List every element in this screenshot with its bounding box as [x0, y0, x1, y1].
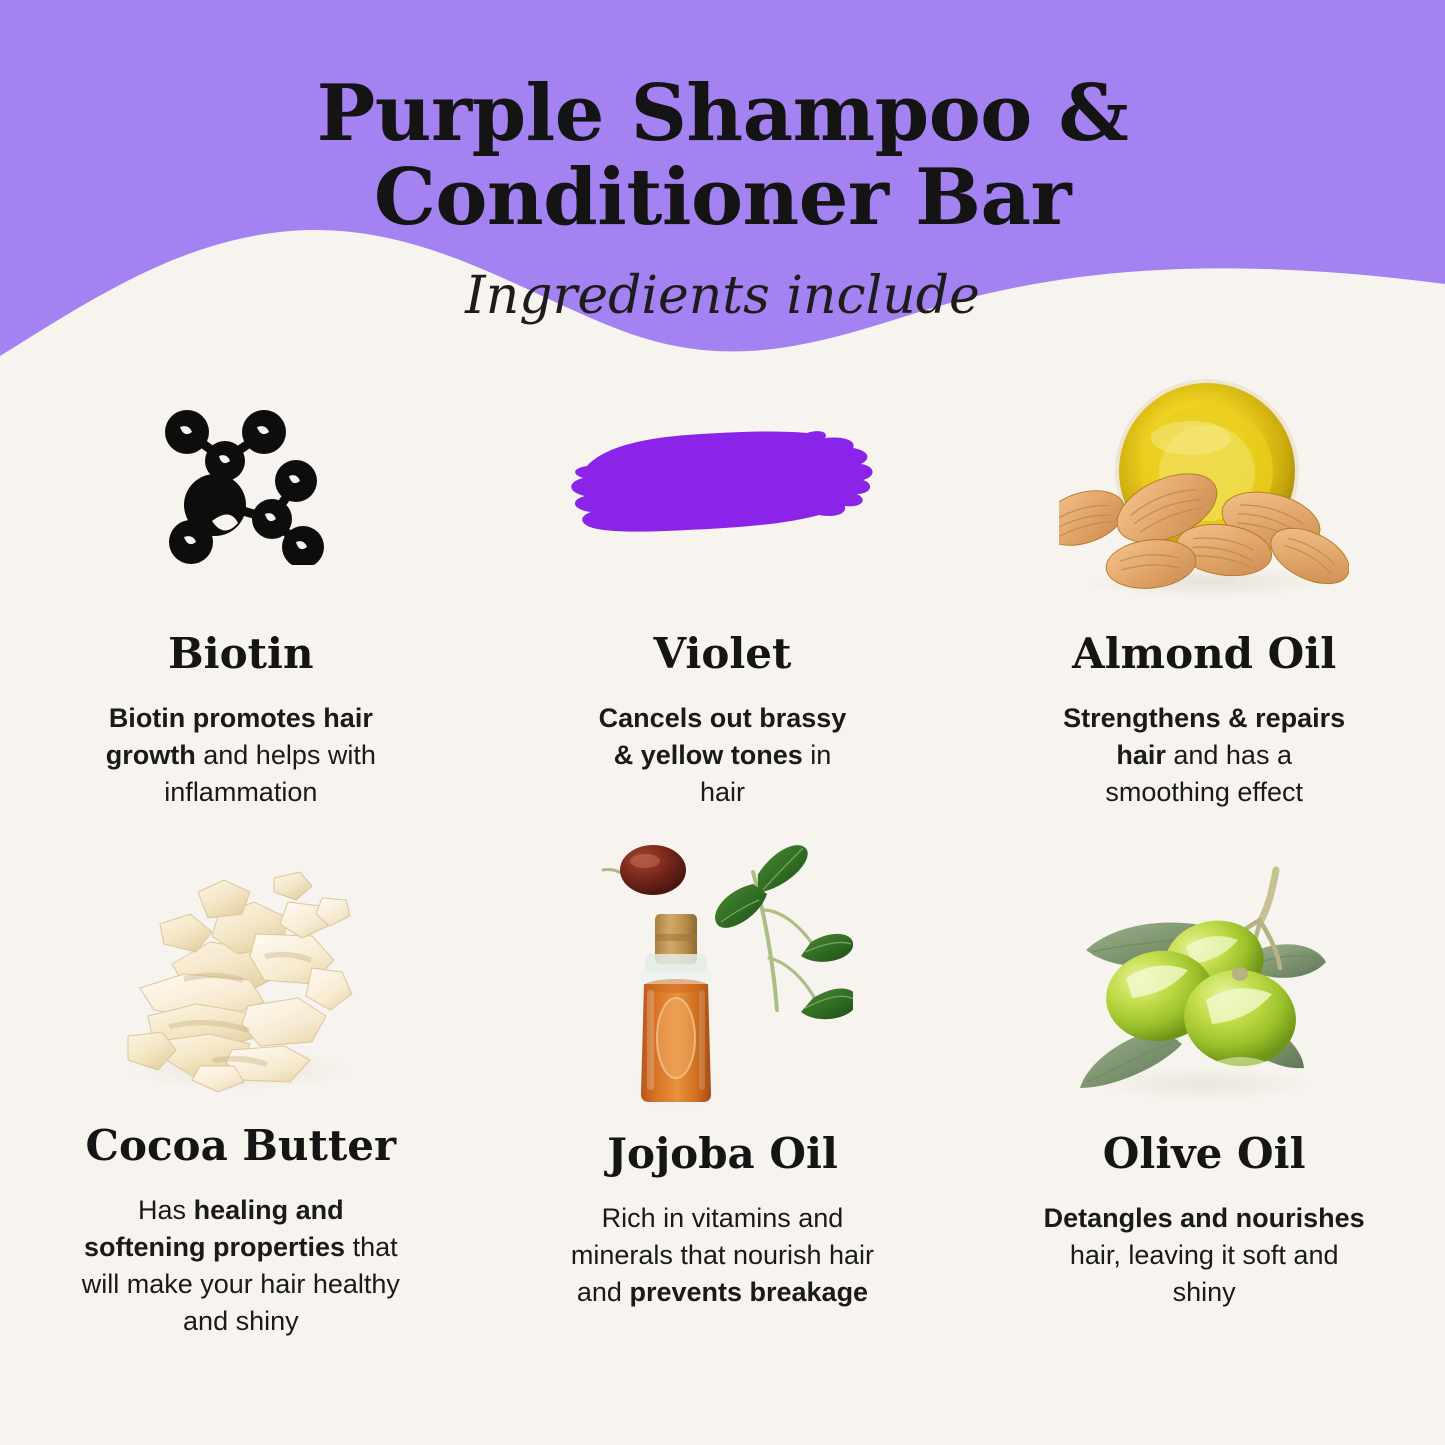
cocoa-butter-art [106, 820, 376, 1102]
desc-plain: and helps with inflammation [164, 740, 376, 807]
biotin-art [153, 360, 328, 610]
desc-bold: prevents breakage [629, 1277, 868, 1307]
ingredient-title-almond-oil: Almond Oil [1072, 630, 1336, 678]
ingredient-description-olive-oil: Detangles and nourishes hair, leaving it… [1039, 1200, 1369, 1311]
almond-oil-bowl-icon [1059, 368, 1349, 603]
ingredient-title-violet: Violet [654, 630, 792, 678]
ingredient-description-biotin: Biotin promotes hair growth and helps wi… [76, 700, 406, 811]
violet-art [557, 360, 887, 610]
violet-brush-stroke-icon [557, 420, 887, 550]
ingredients-grid: Biotin Biotin promotes hair growth and h… [0, 360, 1445, 1340]
olive-oil-art [1064, 820, 1344, 1110]
ingredient-description-almond-oil: Strengthens & repairs hair and has a smo… [1054, 700, 1354, 811]
ingredient-card-jojoba-oil: Jojoba Oil Rich in vitamins and minerals… [482, 820, 964, 1340]
ingredient-title-jojoba-oil: Jojoba Oil [607, 1130, 838, 1178]
ingredient-description-cocoa-butter: Has healing and softening properties tha… [76, 1192, 406, 1340]
header-banner: Purple Shampoo & Conditioner Bar Ingredi… [0, 0, 1445, 380]
page-title-line-2: Conditioner Bar [0, 156, 1445, 240]
desc-plain-lead: Has [138, 1195, 194, 1225]
ingredient-title-biotin: Biotin [168, 630, 313, 678]
olive-branch-icon [1064, 866, 1344, 1106]
ingredient-card-olive-oil: Olive Oil Detangles and nourishes hair, … [963, 820, 1445, 1340]
page-title-line-1: Purple Shampoo & [0, 0, 1445, 156]
jojoba-oil-art [591, 820, 853, 1110]
cocoa-butter-flakes-icon [106, 858, 376, 1098]
desc-plain: hair, leaving it soft and shiny [1070, 1240, 1339, 1307]
desc-bold: healing and softening properties [84, 1195, 345, 1262]
almond-oil-art [1059, 360, 1349, 610]
ingredient-description-jojoba-oil: Rich in vitamins and minerals that nouri… [567, 1200, 877, 1311]
page-subtitle: Ingredients include [0, 240, 1445, 326]
ingredients-infographic: Purple Shampoo & Conditioner Bar Ingredi… [0, 0, 1445, 1445]
ingredient-card-almond-oil: Almond Oil Strengthens & repairs hair an… [963, 360, 1445, 820]
ingredient-title-olive-oil: Olive Oil [1103, 1130, 1306, 1178]
desc-bold: Detangles and nourishes [1044, 1203, 1365, 1233]
ingredient-description-violet: Cancels out brassy & yellow tones in hai… [597, 700, 847, 811]
ingredient-card-violet: Violet Cancels out brassy & yellow tones… [482, 360, 964, 820]
jojoba-oil-bottle-icon [591, 828, 853, 1106]
ingredient-title-cocoa-butter: Cocoa Butter [86, 1122, 397, 1170]
molecule-icon [153, 405, 328, 565]
ingredient-card-biotin: Biotin Biotin promotes hair growth and h… [0, 360, 482, 820]
header-text-block: Purple Shampoo & Conditioner Bar Ingredi… [0, 0, 1445, 326]
ingredient-card-cocoa-butter: Cocoa Butter Has healing and softening p… [0, 820, 482, 1340]
